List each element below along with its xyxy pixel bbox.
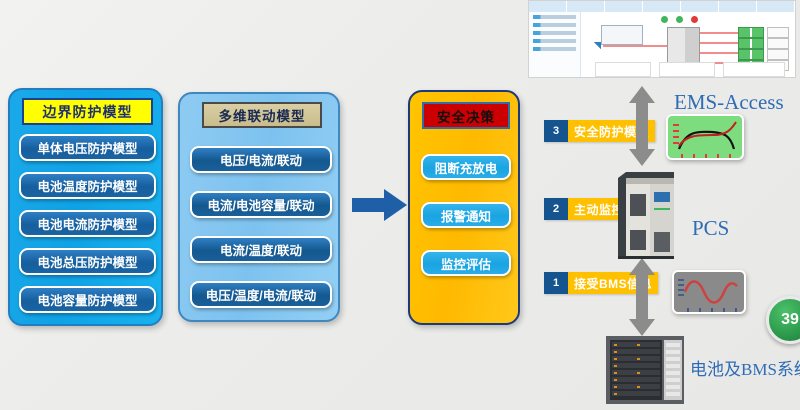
bms-system-label: 电池及BMS系统: [690, 355, 800, 380]
ems-tab: [643, 1, 681, 12]
panel1-item-3[interactable]: 电池总压防护模型: [19, 248, 156, 275]
flow-arrow-icon: [352, 188, 408, 222]
ems-data-table: [601, 25, 643, 45]
ems-tab: [567, 1, 605, 12]
ems-status-led-red: [691, 16, 698, 23]
ems-rack-icon: [767, 38, 789, 49]
panel3-item-1[interactable]: 报警通知: [421, 202, 511, 228]
ems-line-chart: [659, 62, 715, 77]
pcs-label: PCS: [692, 216, 729, 241]
panel2-item-3[interactable]: 电压/温度/电流/联动: [190, 281, 332, 308]
panel3-header: 安全决策: [422, 102, 510, 129]
ems-battery-icon: [738, 49, 764, 60]
double-arrow-ems-pcs-icon: [628, 86, 656, 166]
soc-curve-thumbnail: [666, 114, 744, 160]
ems-rack-icon: [767, 27, 789, 38]
panel2-item-0[interactable]: 电压/电流/联动: [190, 146, 332, 173]
ems-screenshot-thumbnail[interactable]: [528, 0, 796, 78]
ems-tab: [719, 1, 757, 12]
waveform-svg: [674, 272, 746, 314]
green-count-value: 39: [781, 311, 799, 329]
ems-pylon-icon: [587, 42, 601, 60]
ems-rack-icon: [767, 49, 789, 60]
ems-toolbar: [529, 1, 795, 12]
ems-cabinet-icon: [667, 27, 700, 65]
ems-trend-chart: [723, 62, 785, 77]
ems-tab: [757, 1, 795, 12]
ems-battery-icon: [738, 38, 764, 49]
panel3-item-2[interactable]: 监控评估: [421, 250, 511, 276]
panel1-item-4[interactable]: 电池容量防护模型: [19, 286, 156, 313]
double-arrow-pcs-bms-icon: [628, 258, 656, 336]
badge-2-number: 2: [544, 198, 568, 220]
boundary-protection-panel: 边界防护模型 单体电压防护模型 电池温度防护模型 电池电流防护模型 电池总压防护…: [8, 88, 163, 326]
panel1-item-2[interactable]: 电池电流防护模型: [19, 210, 156, 237]
badge-3-number: 3: [544, 120, 568, 142]
pcs-cabinet-image: [614, 168, 678, 260]
soc-curve-svg: [668, 116, 744, 160]
badge-1-number: 1: [544, 272, 568, 294]
panel1-item-0[interactable]: 单体电压防护模型: [19, 134, 156, 161]
panel1-header: 边界防护模型: [22, 98, 153, 125]
safety-decision-panel: 安全决策 阻断充放电 报警通知 监控评估: [408, 90, 520, 325]
ems-bar-chart: [595, 62, 651, 77]
panel1-item-1[interactable]: 电池温度防护模型: [19, 172, 156, 199]
waveform-thumbnail: [672, 270, 746, 314]
ems-status-led-green: [661, 16, 668, 23]
panel2-header: 多维联动模型: [202, 102, 322, 128]
ems-branch-line: [700, 32, 738, 34]
ems-diagram-canvas: [581, 12, 795, 78]
ems-tab: [529, 1, 567, 12]
ems-status-led-green: [676, 16, 683, 23]
ems-tab: [605, 1, 643, 12]
ems-tree-sidebar: [529, 12, 581, 78]
multidimensional-linkage-panel: 多维联动模型 电压/电流/联动 电流/电池容量/联动 电流/温度/联动 电压/温…: [178, 92, 340, 322]
ems-access-label: EMS-Access: [674, 90, 784, 115]
panel2-item-2[interactable]: 电流/温度/联动: [190, 236, 332, 263]
ems-battery-icon: [738, 27, 764, 38]
panel2-item-1[interactable]: 电流/电池容量/联动: [190, 191, 332, 218]
panel3-item-0[interactable]: 阻断充放电: [421, 154, 511, 180]
ems-branch-line: [700, 42, 738, 44]
battery-bms-rack-image: [604, 334, 686, 406]
ems-bus-line: [603, 45, 667, 47]
green-count-badge[interactable]: 39: [766, 296, 800, 344]
ems-tab: [681, 1, 719, 12]
ems-branch-line: [700, 52, 738, 54]
